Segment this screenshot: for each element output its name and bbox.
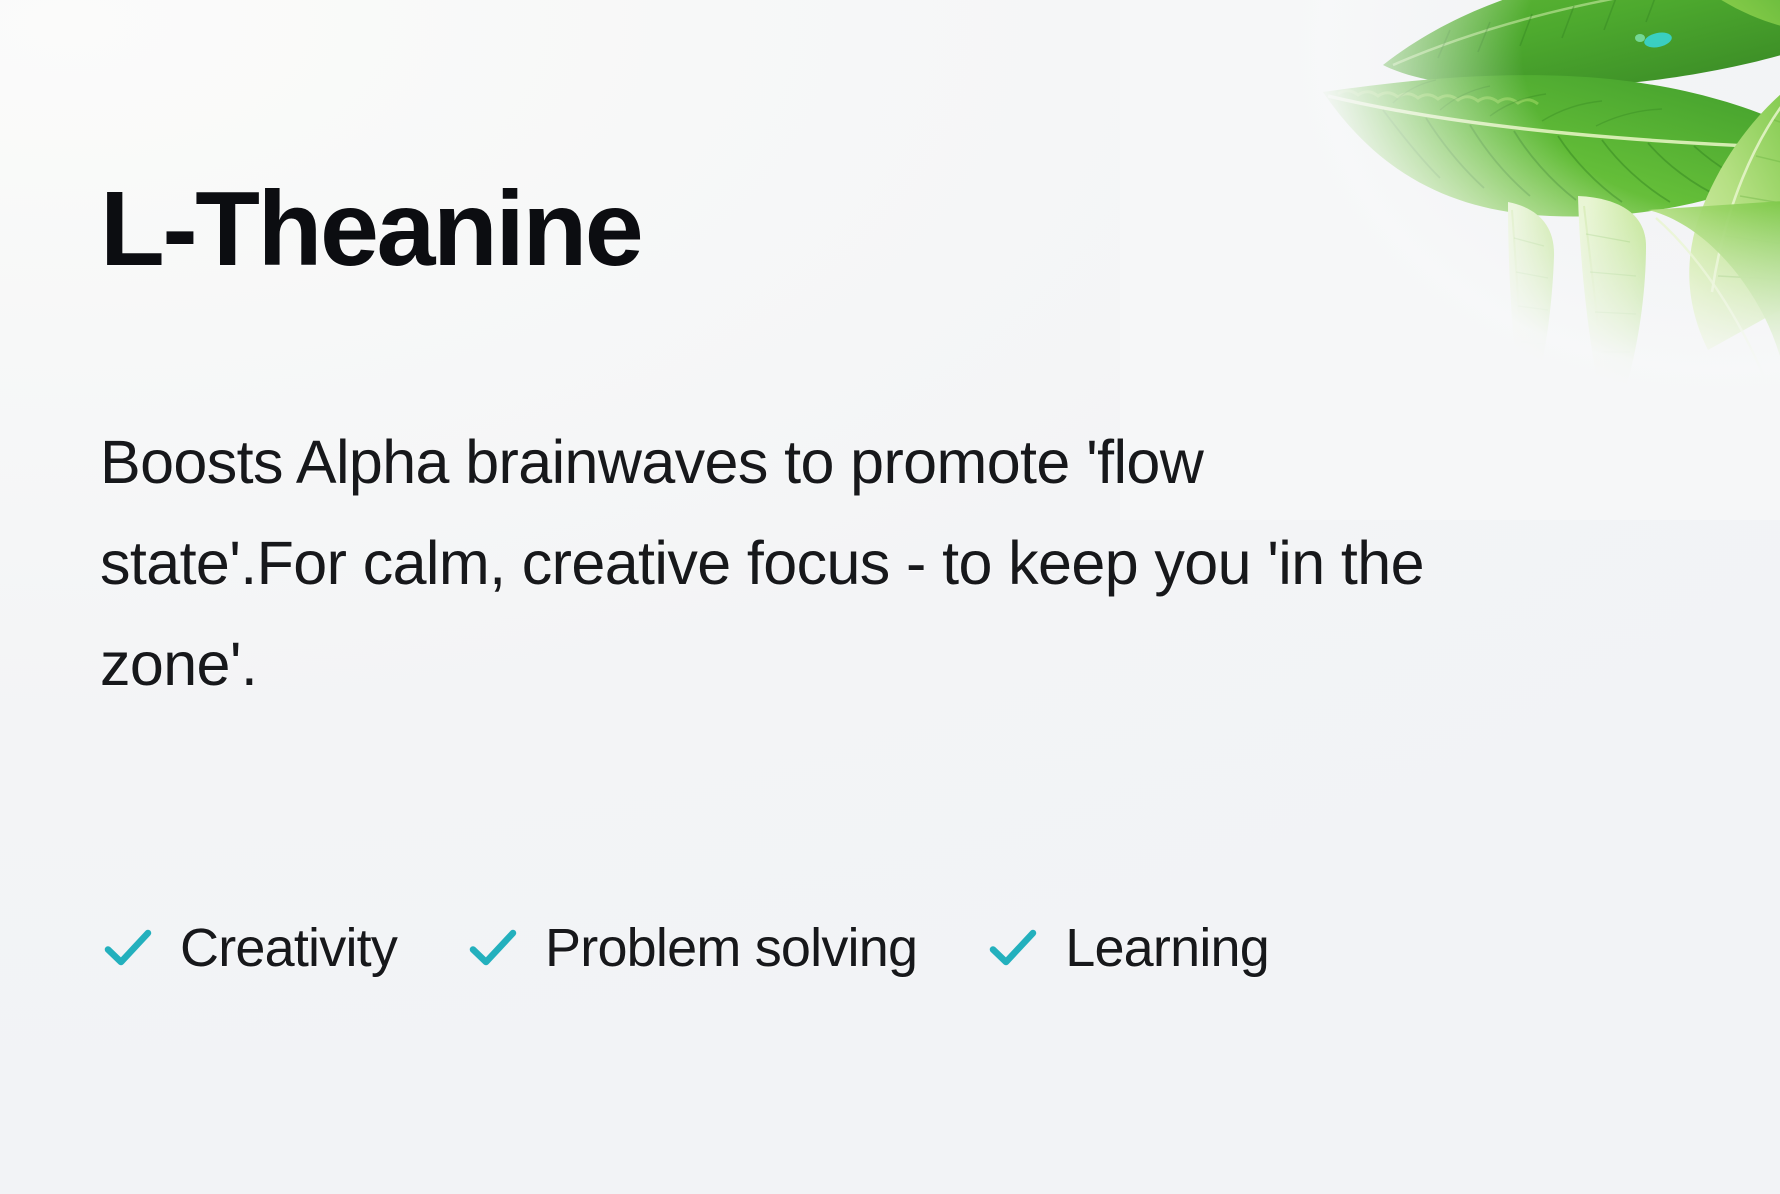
benefit-label: Creativity	[180, 921, 397, 975]
check-icon	[100, 920, 156, 976]
benefit-label: Problem solving	[545, 921, 917, 975]
page-title: L-Theanine	[100, 176, 641, 282]
benefit-label: Learning	[1065, 921, 1269, 975]
check-icon	[985, 920, 1041, 976]
ingredient-description: Boosts Alpha brainwaves to promote 'flow…	[100, 412, 1450, 715]
benefits-list: Creativity Problem solving Learning	[100, 920, 1520, 976]
ingredient-info-card: L-Theanine Boosts Alpha brainwaves to pr…	[0, 0, 1780, 1194]
benefit-item-creativity: Creativity	[100, 920, 397, 976]
check-icon	[465, 920, 521, 976]
benefit-item-learning: Learning	[985, 920, 1269, 976]
benefit-item-problem-solving: Problem solving	[465, 920, 917, 976]
green-tea-leaves-image	[1178, 0, 1780, 440]
